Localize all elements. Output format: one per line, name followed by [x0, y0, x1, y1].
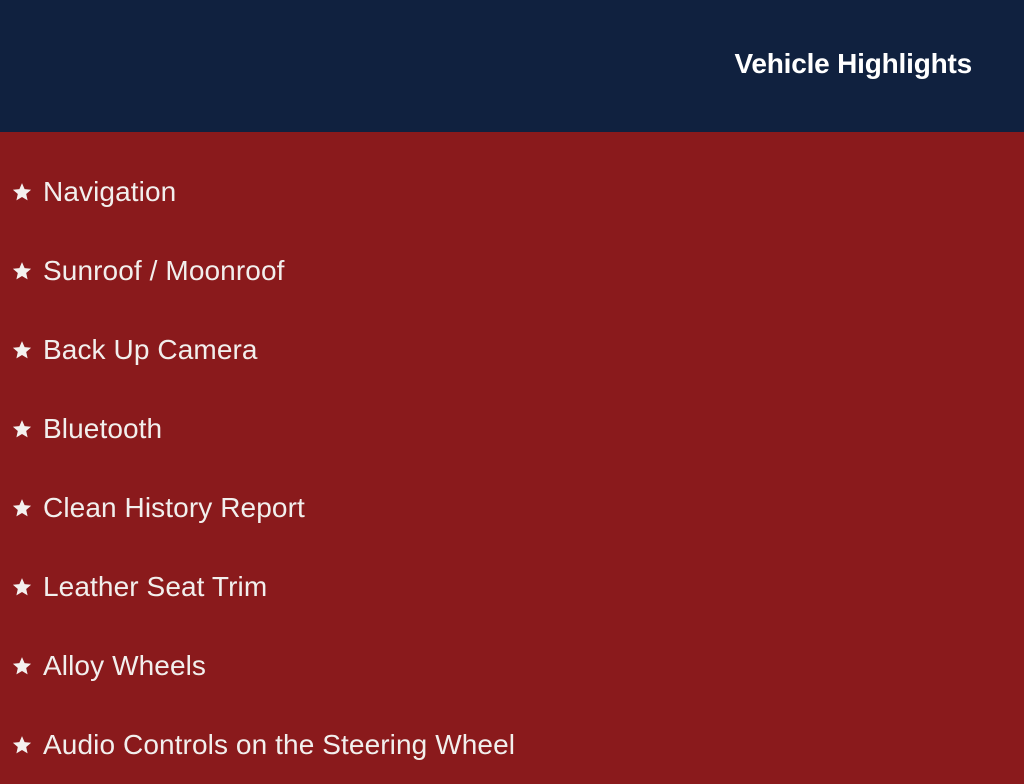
- star-icon: [12, 656, 32, 676]
- list-item-label: Navigation: [43, 175, 176, 209]
- list-item: Alloy Wheels: [0, 626, 1024, 705]
- list-item: Audio Controls on the Steering Wheel: [0, 705, 1024, 784]
- list-item: Leather Seat Trim: [0, 547, 1024, 626]
- list-item: Bluetooth: [0, 389, 1024, 468]
- star-icon: [12, 735, 32, 755]
- star-icon: [12, 498, 32, 518]
- star-icon: [12, 419, 32, 439]
- header-band: Vehicle Highlights: [0, 0, 1024, 132]
- star-icon: [12, 261, 32, 281]
- list-item-label: Leather Seat Trim: [43, 570, 267, 604]
- list-item-label: Clean History Report: [43, 491, 305, 525]
- list-item-label: Bluetooth: [43, 412, 162, 446]
- list-item: Navigation: [0, 152, 1024, 231]
- list-item-label: Audio Controls on the Steering Wheel: [43, 728, 515, 762]
- highlights-panel: Navigation Sunroof / Moonroof Back Up Ca…: [0, 132, 1024, 768]
- list-item-label: Sunroof / Moonroof: [43, 254, 285, 288]
- vehicle-highlights-slide: Vehicle Highlights Navigation Sunroof / …: [0, 0, 1024, 768]
- star-icon: [12, 340, 32, 360]
- page-title: Vehicle Highlights: [734, 46, 972, 82]
- star-icon: [12, 182, 32, 202]
- list-item-label: Alloy Wheels: [43, 649, 206, 683]
- list-item: Sunroof / Moonroof: [0, 231, 1024, 310]
- list-item-label: Back Up Camera: [43, 333, 258, 367]
- star-icon: [12, 577, 32, 597]
- list-item: Back Up Camera: [0, 310, 1024, 389]
- highlights-list: Navigation Sunroof / Moonroof Back Up Ca…: [0, 152, 1024, 784]
- list-item: Clean History Report: [0, 468, 1024, 547]
